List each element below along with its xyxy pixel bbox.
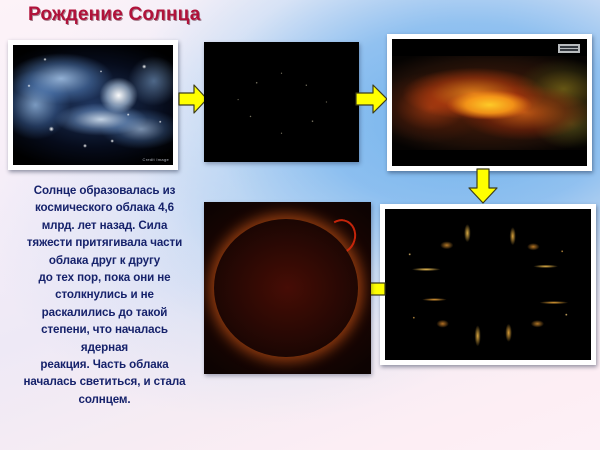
- body-line: космического облака 4,6: [2, 199, 207, 216]
- image-nebula: Credit Image: [8, 40, 178, 170]
- body-line: началась светиться, и стала: [2, 373, 207, 390]
- hot-cloud-canvas: [392, 39, 587, 166]
- body-line: ядерная: [2, 339, 207, 356]
- body-line: раскалились до такой: [2, 304, 207, 321]
- image-protoplanetary-disk: [204, 42, 359, 162]
- disk-canvas: [204, 42, 359, 162]
- body-paragraph: Солнце образовалась из космического обла…: [2, 182, 207, 408]
- nebula-canvas: Credit Image: [13, 45, 173, 165]
- body-line: солнцем.: [2, 391, 207, 408]
- disk-particles-icon: [204, 42, 359, 162]
- arrow-down-icon: [467, 168, 499, 204]
- image-explosion: [380, 204, 596, 365]
- body-line: степени, что началась: [2, 321, 207, 338]
- body-line: реакция. Часть облака: [2, 356, 207, 373]
- arrow-right-icon: [355, 82, 388, 116]
- body-line: млрд. лет назад. Сила: [2, 217, 207, 234]
- image-sun: [204, 202, 371, 374]
- explosion-canvas: [385, 209, 591, 360]
- body-line: столкнулись и не: [2, 286, 207, 303]
- sun-canvas: [204, 202, 371, 374]
- watermark-icon: [558, 44, 580, 53]
- body-line: до тех пор, пока они не: [2, 269, 207, 286]
- star-field-icon: [13, 45, 173, 165]
- body-line: облака друг к другу: [2, 252, 207, 269]
- sparks-icon: [385, 209, 591, 360]
- slide-canvas: Рождение Солнца Credit Image: [0, 0, 600, 450]
- image-credit-label: Credit Image: [143, 157, 170, 162]
- page-title: Рождение Солнца: [28, 4, 201, 26]
- body-line: тяжести притягивала части: [2, 234, 207, 251]
- image-hot-cloud: [387, 34, 592, 171]
- hot-gas-icon: [392, 56, 587, 150]
- body-line: Солнце образовалась из: [2, 182, 207, 199]
